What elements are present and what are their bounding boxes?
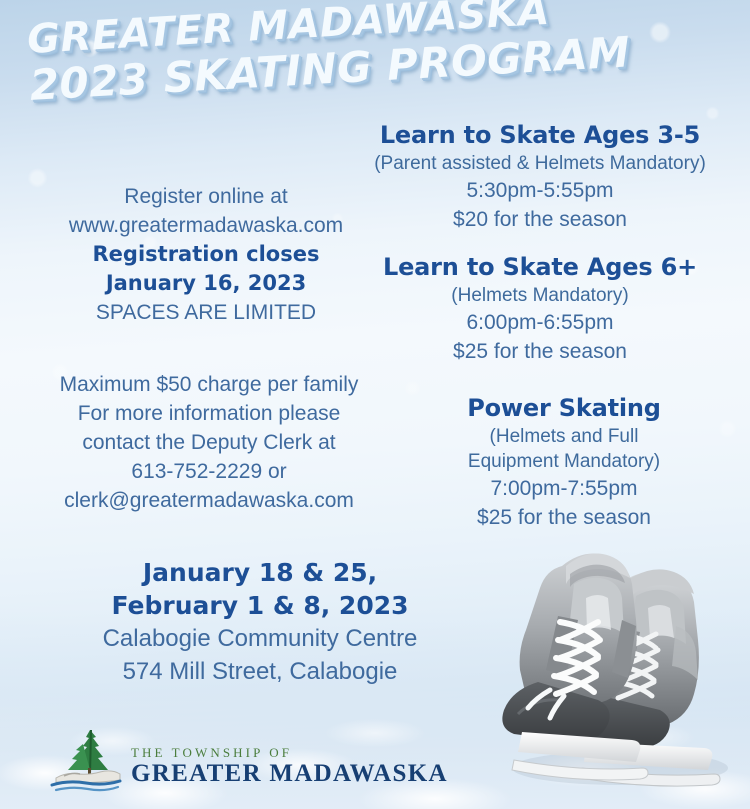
township-logo: THE TOWNSHIP OF GREATER MADAWASKA <box>50 726 448 796</box>
program-learn-to-skate-6-plus: Learn to Skate Ages 6+ (Helmets Mandator… <box>330 252 750 366</box>
logo-wordmark: THE TOWNSHIP OF GREATER MADAWASKA <box>131 745 448 796</box>
session-dates-line-2: February 1 & 8, 2023 <box>40 589 480 622</box>
program-time: 5:30pm-5:55pm <box>330 176 750 205</box>
program-requirement-line1: (Helmets and Full <box>378 424 750 449</box>
more-info-line-2: contact the Deputy Clerk at <box>4 428 414 457</box>
session-dates-line-1: January 18 & 25, <box>40 556 480 589</box>
program-time: 7:00pm-7:55pm <box>378 474 750 503</box>
venue-address: 574 Mill Street, Calabogie <box>40 655 480 688</box>
venue-name: Calabogie Community Centre <box>40 622 480 655</box>
program-requirement: (Parent assisted & Helmets Mandatory) <box>330 151 750 176</box>
logo-tagline: THE TOWNSHIP OF <box>131 745 448 760</box>
program-price: $20 for the season <box>330 205 750 234</box>
program-time: 6:00pm-6:55pm <box>330 308 750 337</box>
poster-title: GREATER MADAWASKA 2023 SKATING PROGRAM <box>26 0 590 108</box>
skate-left <box>502 554 648 780</box>
contact-phone[interactable]: 613-752-2229 or <box>4 457 414 486</box>
program-power-skating: Power Skating (Helmets and Full Equipmen… <box>378 393 750 532</box>
hockey-skates-image <box>470 530 748 790</box>
program-price: $25 for the season <box>378 503 750 532</box>
program-name: Power Skating <box>378 393 750 424</box>
contact-email[interactable]: clerk@greatermadawaska.com <box>4 486 414 515</box>
program-requirement-line2: Equipment Mandatory) <box>378 449 750 474</box>
max-charge-notice: Maximum $50 charge per family <box>4 370 414 399</box>
program-name: Learn to Skate Ages 3-5 <box>330 120 750 151</box>
program-price: $25 for the season <box>330 337 750 366</box>
schedule-block: January 18 & 25, February 1 & 8, 2023 Ca… <box>40 556 480 688</box>
pine-tree-lake-icon <box>50 726 122 796</box>
contact-block: Maximum $50 charge per family For more i… <box>4 370 414 515</box>
program-learn-to-skate-3-5: Learn to Skate Ages 3-5 (Parent assisted… <box>330 120 750 234</box>
program-requirement: (Helmets Mandatory) <box>330 283 750 308</box>
logo-name: GREATER MADAWASKA <box>131 760 448 787</box>
program-name: Learn to Skate Ages 6+ <box>330 252 750 283</box>
more-info-line-1: For more information please <box>4 399 414 428</box>
